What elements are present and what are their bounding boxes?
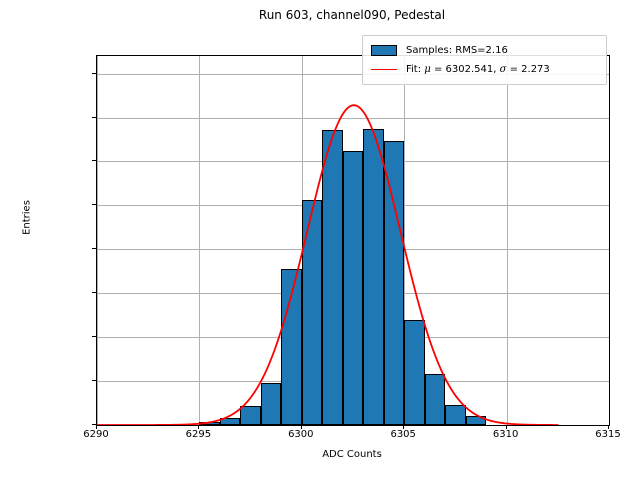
legend-label-fit: Fit: μ = 6302.541, σ = 2.273 (406, 64, 550, 75)
x-axis-tick-label: 6310 (476, 429, 536, 440)
legend-label-samples: Samples: RMS=2.16 (406, 45, 508, 56)
legend-fit-prefix: Fit: (406, 64, 424, 75)
plot-inner (97, 56, 609, 425)
x-axis-tick-label: 6305 (373, 429, 433, 440)
x-axis-label: ADC Counts (96, 449, 608, 460)
fit-curve-path (97, 105, 558, 425)
legend: Samples: RMS=2.16 Fit: μ = 6302.541, σ =… (362, 35, 607, 85)
y-axis-label: Entries (22, 168, 33, 268)
legend-swatch-samples-icon (371, 45, 397, 56)
figure-canvas: Run 603, channel090, Pedestal Entries AD… (0, 0, 640, 480)
legend-swatch-fit-icon (371, 69, 397, 70)
plot-area (96, 55, 610, 426)
legend-entry-fit: Fit: μ = 6302.541, σ = 2.273 (369, 60, 600, 79)
legend-fit-mu-value: = 6302.541, (431, 64, 500, 75)
legend-entry-samples: Samples: RMS=2.16 (369, 41, 600, 60)
x-axis-tick-label: 6300 (271, 429, 331, 440)
chart-title: Run 603, channel090, Pedestal (96, 8, 608, 22)
x-axis-tick-label: 6290 (66, 429, 126, 440)
fit-curve (97, 56, 609, 425)
legend-fit-sigma-value: = 2.273 (506, 64, 549, 75)
x-axis-tick-label: 6315 (578, 429, 638, 440)
x-axis-tick-label: 6295 (168, 429, 228, 440)
